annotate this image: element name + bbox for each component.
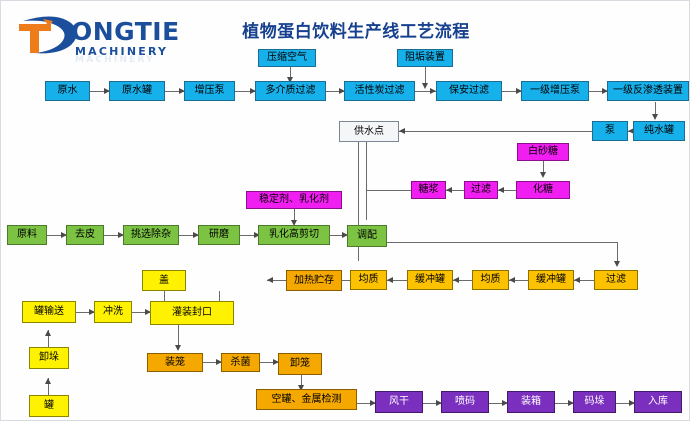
node-junzhi-1[interactable]: 均质: [350, 270, 387, 290]
node-guanzhuang-fengkou[interactable]: 灌装封口: [150, 301, 234, 325]
arrow-left: [574, 277, 580, 283]
node-ruku[interactable]: 入库: [634, 391, 682, 413]
node-yiji-zengyabeng[interactable]: 一级增压泵: [521, 81, 589, 101]
arrow-left: [267, 277, 273, 283]
node-qupi[interactable]: 去皮: [66, 225, 104, 245]
svg-text:ONGTIE: ONGTIE: [71, 17, 180, 46]
node-zengyabeng[interactable]: 增压泵: [184, 81, 235, 101]
node-guanshusong[interactable]: 罐输送: [22, 301, 76, 323]
node-yanmo[interactable]: 研磨: [198, 225, 240, 245]
svg-text:MACHINERY: MACHINERY: [75, 55, 155, 63]
node-yasuokongqi[interactable]: 压缩空气: [258, 49, 316, 67]
node-gongshuidian[interactable]: 供水点: [339, 121, 399, 142]
node-zhuanglong[interactable]: 装笼: [147, 353, 203, 372]
node-yiji-fanshentou[interactable]: 一级反渗透装置: [607, 81, 689, 101]
arrow-down: [422, 83, 428, 89]
node-fenggan[interactable]: 风干: [375, 391, 423, 413]
node-penma[interactable]: 喷码: [441, 391, 489, 413]
node-guolv-chengpin[interactable]: 过滤: [594, 270, 638, 290]
node-zhuangxiang[interactable]: 装箱: [507, 391, 555, 413]
page-title: 植物蛋白饮料生产线工艺流程: [206, 17, 506, 42]
node-huoxingtan-guolv[interactable]: 活性炭过滤: [344, 81, 415, 101]
flowchart-canvas: ONGTIE MACHINERY MACHINERY 植物蛋白饮料生产线工艺流程: [0, 0, 690, 421]
node-jiare-zhucun[interactable]: 加热贮存: [286, 270, 342, 291]
arrow-down: [652, 114, 658, 120]
node-ruhua-gaojianqie[interactable]: 乳化高剪切: [258, 225, 330, 245]
node-xielong[interactable]: 卸笼: [278, 353, 322, 375]
arrow-left: [446, 187, 452, 193]
node-junzhi-2[interactable]: 均质: [472, 270, 509, 290]
node-duojiezhi-guolv[interactable]: 多介质过滤: [255, 81, 326, 101]
connector: [366, 190, 367, 220]
arrow-down: [175, 345, 181, 351]
node-beng[interactable]: 泵: [592, 121, 628, 141]
node-shajun[interactable]: 杀菌: [221, 353, 260, 372]
node-guan[interactable]: 罐: [29, 395, 69, 417]
arrow-up: [45, 330, 51, 336]
node-yuanliao[interactable]: 原料: [7, 225, 47, 245]
arrow-left: [387, 277, 393, 283]
node-zugou-zhuangzhi[interactable]: 阻垢装置: [397, 49, 453, 67]
connector: [387, 242, 617, 243]
node-yuanshui[interactable]: 原水: [45, 81, 90, 101]
arrow-left: [498, 187, 504, 193]
node-yuanshuiguan[interactable]: 原水罐: [109, 81, 165, 101]
connector: [366, 190, 411, 191]
node-chunshuiguan[interactable]: 纯水罐: [633, 121, 685, 141]
node-tiaopei[interactable]: 调配: [347, 225, 387, 247]
node-guolv-tangjiang[interactable]: 过滤: [464, 181, 498, 199]
node-huanchongguan-2[interactable]: 缓冲罐: [528, 270, 574, 290]
node-kongguan-jinshu-jiance[interactable]: 空罐、金属检测: [256, 389, 357, 410]
connector: [399, 131, 592, 132]
arrow-down: [614, 261, 620, 267]
node-huatang[interactable]: 化糖: [516, 181, 570, 199]
node-wendingji-ruhuaji[interactable]: 稳定剂、乳化剂: [246, 191, 342, 209]
node-gai[interactable]: 盖: [142, 270, 186, 291]
node-maduo[interactable]: 码垛: [573, 391, 616, 413]
arrow-left: [399, 128, 405, 134]
node-huanchongguan-1[interactable]: 缓冲罐: [407, 270, 453, 290]
arrow-up: [45, 378, 51, 384]
arrow-left: [453, 277, 459, 283]
arrow-down: [540, 172, 546, 178]
node-chongxi[interactable]: 冲洗: [94, 301, 132, 323]
company-logo: ONGTIE MACHINERY MACHINERY: [9, 7, 214, 63]
node-baishatang[interactable]: 白砂糖: [517, 143, 569, 161]
node-xieduo[interactable]: 卸垛: [29, 347, 69, 369]
node-baoan-guolv[interactable]: 保安过滤: [436, 81, 502, 101]
node-tangjiang[interactable]: 糖浆: [411, 181, 446, 199]
arrow-left: [509, 277, 515, 283]
node-tiaoxuan-chuza[interactable]: 挑选除杂: [123, 225, 179, 245]
